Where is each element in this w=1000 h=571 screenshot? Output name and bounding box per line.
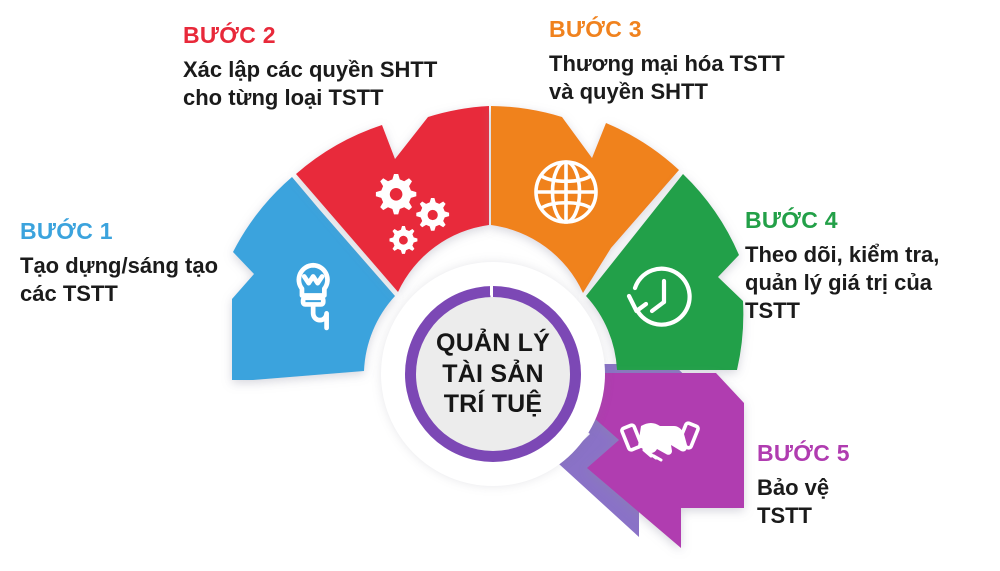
step-1-title: BƯỚC 1 [20,218,218,245]
step-5-body: Bảo vệ TSTT [757,474,850,530]
step-2-title: BƯỚC 2 [183,22,437,49]
globe-icon [536,162,596,222]
step-5-segment[interactable] [585,373,744,548]
step-4-title: BƯỚC 4 [745,207,939,234]
step-3-body: Thương mại hóa TSTT và quyền SHTT [549,50,785,106]
infographic-canvas: QUẢN LÝ TÀI SẢN TRÍ TUỆ BƯỚC 1 Tạo dựng/… [0,0,1000,571]
center-disc: QUẢN LÝ TÀI SẢN TRÍ TUỆ [416,297,570,451]
step-1-label: BƯỚC 1 Tạo dựng/sáng tạo các TSTT [20,218,218,308]
step-1-body: Tạo dựng/sáng tạo các TSTT [20,252,218,308]
step-2-body: Xác lập các quyền SHTT cho từng loại TST… [183,56,437,112]
step-5-label: BƯỚC 5 Bảo vệ TSTT [757,440,850,530]
step-3-title: BƯỚC 3 [549,16,785,43]
step-3-label: BƯỚC 3 Thương mại hóa TSTT và quyền SHTT [549,16,785,106]
step-4-label: BƯỚC 4 Theo dõi, kiểm tra, quản lý giá t… [745,207,939,325]
center-hub: QUẢN LÝ TÀI SẢN TRÍ TUỆ [381,262,605,486]
step-2-label: BƯỚC 2 Xác lập các quyền SHTT cho từng l… [183,22,437,112]
step-4-body: Theo dõi, kiểm tra, quản lý giá trị của … [745,241,939,325]
center-title: QUẢN LÝ TÀI SẢN TRÍ TUỆ [436,328,550,420]
step-5-title: BƯỚC 5 [757,440,850,467]
